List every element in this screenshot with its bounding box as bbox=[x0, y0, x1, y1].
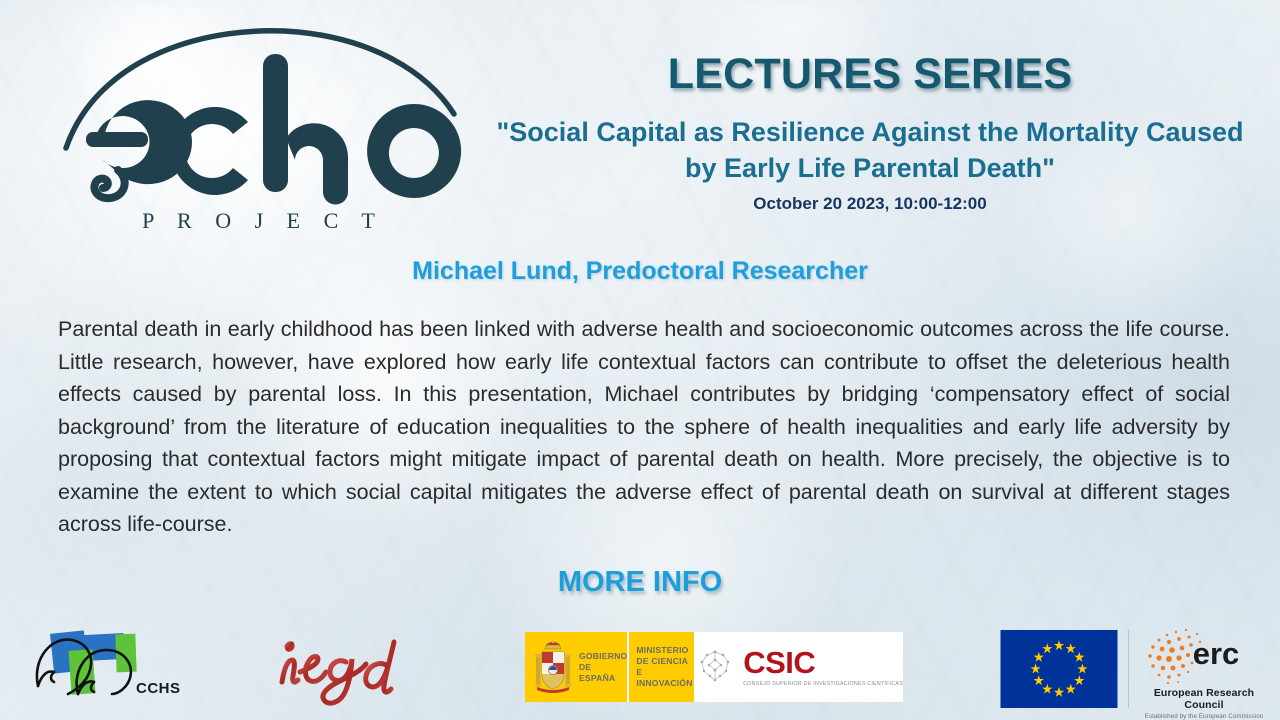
abstract-block: Parental death in early childhood has be… bbox=[58, 313, 1230, 541]
ministerio-line-2: DE CIENCIA bbox=[636, 656, 694, 667]
header-block: LECTURES SERIES "Social Capital as Resil… bbox=[470, 52, 1270, 214]
logo-cchs: CCHS bbox=[24, 628, 200, 712]
lecture-title-line-2: by Early Life Parental Death" bbox=[685, 153, 1055, 183]
ministerio-line-1: MINISTERIO bbox=[636, 645, 694, 656]
footer-divider bbox=[1128, 630, 1129, 708]
eu-flag-icon bbox=[1000, 630, 1118, 708]
logo-csic: CSIC CONSEJO SUPERIOR DE INVESTIGACIONES… bbox=[694, 632, 903, 702]
footer-logo-bar: CCHS bbox=[0, 614, 1280, 720]
series-title: LECTURES SERIES bbox=[470, 52, 1270, 97]
csic-emblem-icon bbox=[694, 646, 736, 688]
more-info-link[interactable]: MORE INFO bbox=[558, 566, 722, 599]
csic-subtitle: CONSEJO SUPERIOR DE INVESTIGACIONES CIEN… bbox=[743, 681, 903, 687]
iegd-wordmark-icon bbox=[268, 630, 418, 710]
erc-full-name: European Research Council bbox=[1140, 687, 1268, 711]
lecture-date: October 20 2023, 10:00-12:00 bbox=[470, 194, 1270, 214]
logo-iegd bbox=[268, 630, 418, 710]
ministerio-line-3: E INNOVACIÓN bbox=[636, 667, 694, 689]
speaker-block: Michael Lund, Predoctoral Researcher bbox=[0, 257, 1280, 286]
erc-established-note: Established by the European Commission bbox=[1140, 713, 1268, 720]
logo-european-union bbox=[1000, 630, 1120, 708]
gobierno-line-2: DE ESPAÑA bbox=[579, 662, 627, 684]
abstract-text: Parental death in early childhood has be… bbox=[58, 313, 1230, 541]
spain-coat-of-arms-icon bbox=[533, 640, 573, 694]
logo-erc: erc European Research Council Establishe… bbox=[1140, 624, 1268, 716]
more-info-block: MORE INFO bbox=[0, 566, 1280, 599]
erc-wordmark: erc bbox=[1193, 636, 1240, 671]
cchs-acronym: CCHS bbox=[136, 680, 181, 697]
erc-dots-icon: erc bbox=[1140, 624, 1268, 686]
logo-gobierno-csic-bar: GOBIERNO DE ESPAÑA MINISTERIO DE CIENCIA… bbox=[525, 632, 903, 702]
speaker-name-and-role: Michael Lund, Predoctoral Researcher bbox=[0, 257, 1280, 286]
ministerio-text: MINISTERIO DE CIENCIA E INNOVACIÓN bbox=[636, 645, 694, 689]
logo-gobierno-espana: GOBIERNO DE ESPAÑA bbox=[525, 632, 627, 702]
csic-acronym: CSIC bbox=[743, 648, 815, 678]
csic-text-block: CSIC CONSEJO SUPERIOR DE INVESTIGACIONES… bbox=[743, 648, 903, 687]
logo-ministerio: MINISTERIO DE CIENCIA E INNOVACIÓN bbox=[627, 632, 694, 702]
gobierno-text: GOBIERNO DE ESPAÑA bbox=[579, 651, 627, 684]
poster-canvas: P R O J E C T LECTURES SERIES "Social Ca… bbox=[0, 0, 1280, 720]
lecture-title-line-1: "Social Capital as Resilience Against th… bbox=[496, 117, 1243, 147]
echo-logo-subtitle: P R O J E C T bbox=[142, 208, 384, 233]
gobierno-line-1: GOBIERNO bbox=[579, 651, 627, 662]
echo-project-logo: P R O J E C T bbox=[58, 18, 468, 236]
lecture-title: "Social Capital as Resilience Against th… bbox=[470, 115, 1270, 186]
